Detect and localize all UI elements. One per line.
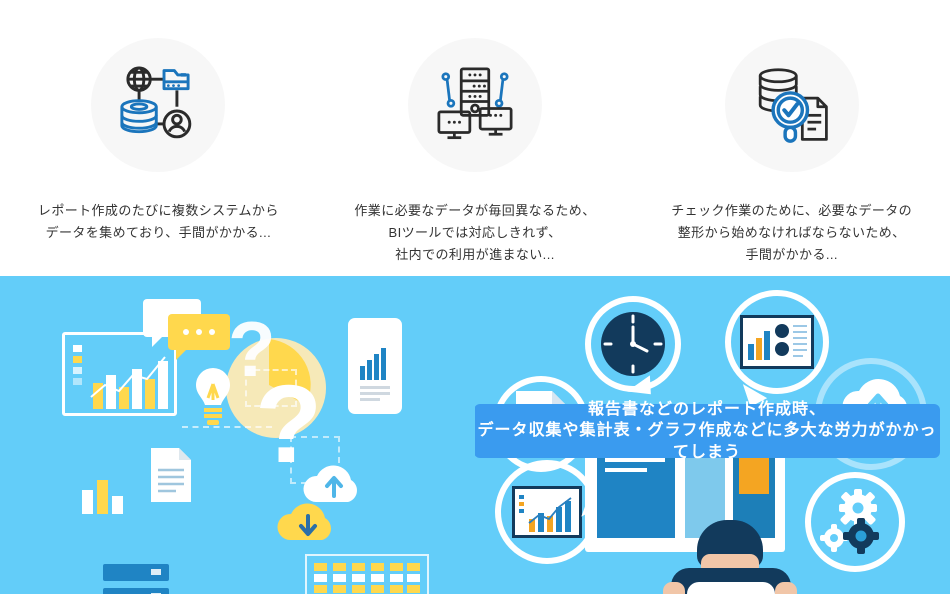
problem-card-3-text: チェック作業のために、必要なデータの 整形から始めなければならないため、 手間が… (671, 200, 912, 266)
clock-bubble-icon (585, 296, 681, 392)
svg-text:?: ? (228, 314, 276, 393)
document-icon (148, 446, 194, 504)
right-banner-label: 報告書などのレポート作成時、 データ収集や集計表・グラフ作成などに多大な労力がか… (475, 404, 940, 458)
problem-card-1-text: レポート作成のたびに複数システムから データを集めており、手間がかかる... (38, 200, 279, 244)
data-inspect-magnifier-icon (725, 38, 859, 172)
problem-card-3: チェック作業のために、必要なデータの 整形から始めなければならないため、 手間が… (633, 0, 950, 276)
problem-card-2: 作業に必要なデータが毎回異なるため、 BIツールでは対応しきれず、 社内での利用… (317, 0, 634, 276)
problem-section-page: レポート作成のたびに複数システムから データを集めており、手間がかかる... (0, 0, 950, 594)
cloud-download-icon (270, 498, 350, 546)
problem-card-1: レポート作成のたびに複数システムから データを集めており、手間がかかる... (0, 0, 317, 276)
banner-right-illustration: 報告書などのレポート作成時、 データ収集や集計表・グラフ作成などに多大な労力がか… (475, 276, 950, 594)
person-at-desk-icon (625, 520, 835, 594)
database-network-icon (91, 38, 225, 172)
smartphone-chart-icon (348, 318, 402, 414)
server-monitors-icon (408, 38, 542, 172)
problem-cards-row: レポート作成のたびに複数システムから データを集めており、手間がかかる... (0, 0, 950, 276)
dashboard-bubble-icon (725, 290, 829, 394)
banner-left-illustration: ? ? (0, 276, 475, 594)
server-stack-icon (103, 564, 169, 594)
mini-bar-chart-icon (82, 476, 126, 514)
question-mark-icon: ? (228, 314, 288, 394)
illustration-banner: ? ? (0, 276, 950, 594)
spreadsheet-grid-icon (305, 554, 429, 594)
problem-card-2-text: 作業に必要なデータが毎回異なるため、 BIツールでは対応しきれず、 社内での利用… (354, 200, 595, 266)
